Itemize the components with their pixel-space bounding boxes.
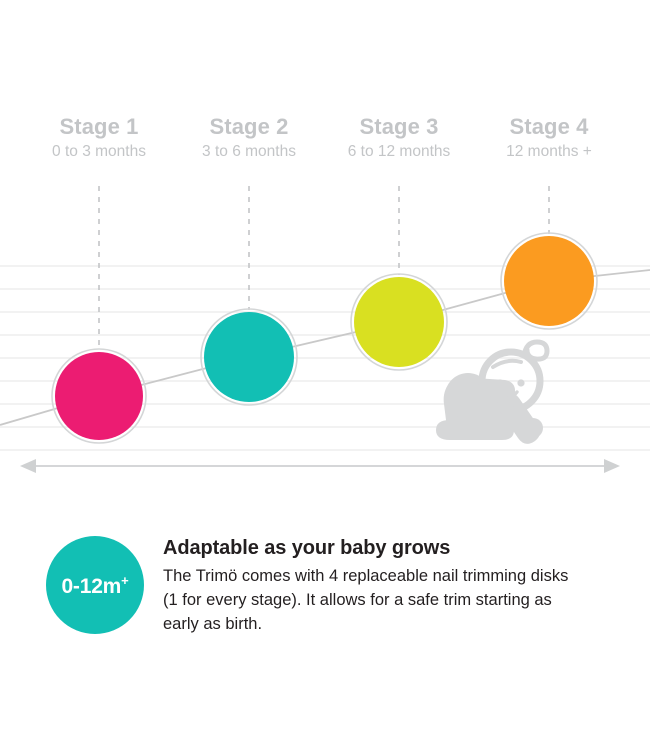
stage-label-4: Stage 4 12 months + [469, 113, 629, 164]
stage-subtitle-1: 0 to 3 months [19, 140, 179, 164]
stage-label-2: Stage 2 3 to 6 months [169, 113, 329, 164]
info-text: Adaptable as your baby grows The Trimö c… [163, 534, 583, 636]
stage-subtitle-4: 12 months + [469, 140, 629, 164]
stage-title-3: Stage 3 [319, 113, 479, 140]
stage-subtitle-3: 6 to 12 months [319, 140, 479, 164]
age-range-badge-label: 0-12m+ [61, 574, 128, 597]
age-range-badge: 0-12m+ [46, 536, 144, 634]
stage-circle-1[interactable] [52, 349, 146, 443]
age-range-value: 0-12m [61, 575, 121, 598]
age-range-plus: + [121, 573, 128, 588]
stage-title-1: Stage 1 [19, 113, 179, 140]
stage-subtitle-2: 3 to 6 months [169, 140, 329, 164]
info-body: The Trimö comes with 4 replaceable nail … [163, 564, 583, 636]
info-block: 0-12m+ Adaptable as your baby grows The … [0, 530, 650, 650]
stage-labels: Stage 1 0 to 3 months Stage 2 3 to 6 mon… [0, 113, 650, 183]
stage-circle-3[interactable] [351, 274, 447, 370]
timeline-axis-arrow [20, 459, 620, 473]
stage-title-2: Stage 2 [169, 113, 329, 140]
stage-label-3: Stage 3 6 to 12 months [319, 113, 479, 164]
info-heading: Adaptable as your baby grows [163, 534, 583, 562]
stage-circle-2[interactable] [201, 309, 297, 405]
dashed-connectors [99, 186, 549, 350]
stage-progression-diagram: Stage 1 0 to 3 months Stage 2 3 to 6 mon… [0, 0, 650, 750]
stage-circle-4[interactable] [501, 233, 597, 329]
stage-label-1: Stage 1 0 to 3 months [19, 113, 179, 164]
stage-title-4: Stage 4 [469, 113, 629, 140]
